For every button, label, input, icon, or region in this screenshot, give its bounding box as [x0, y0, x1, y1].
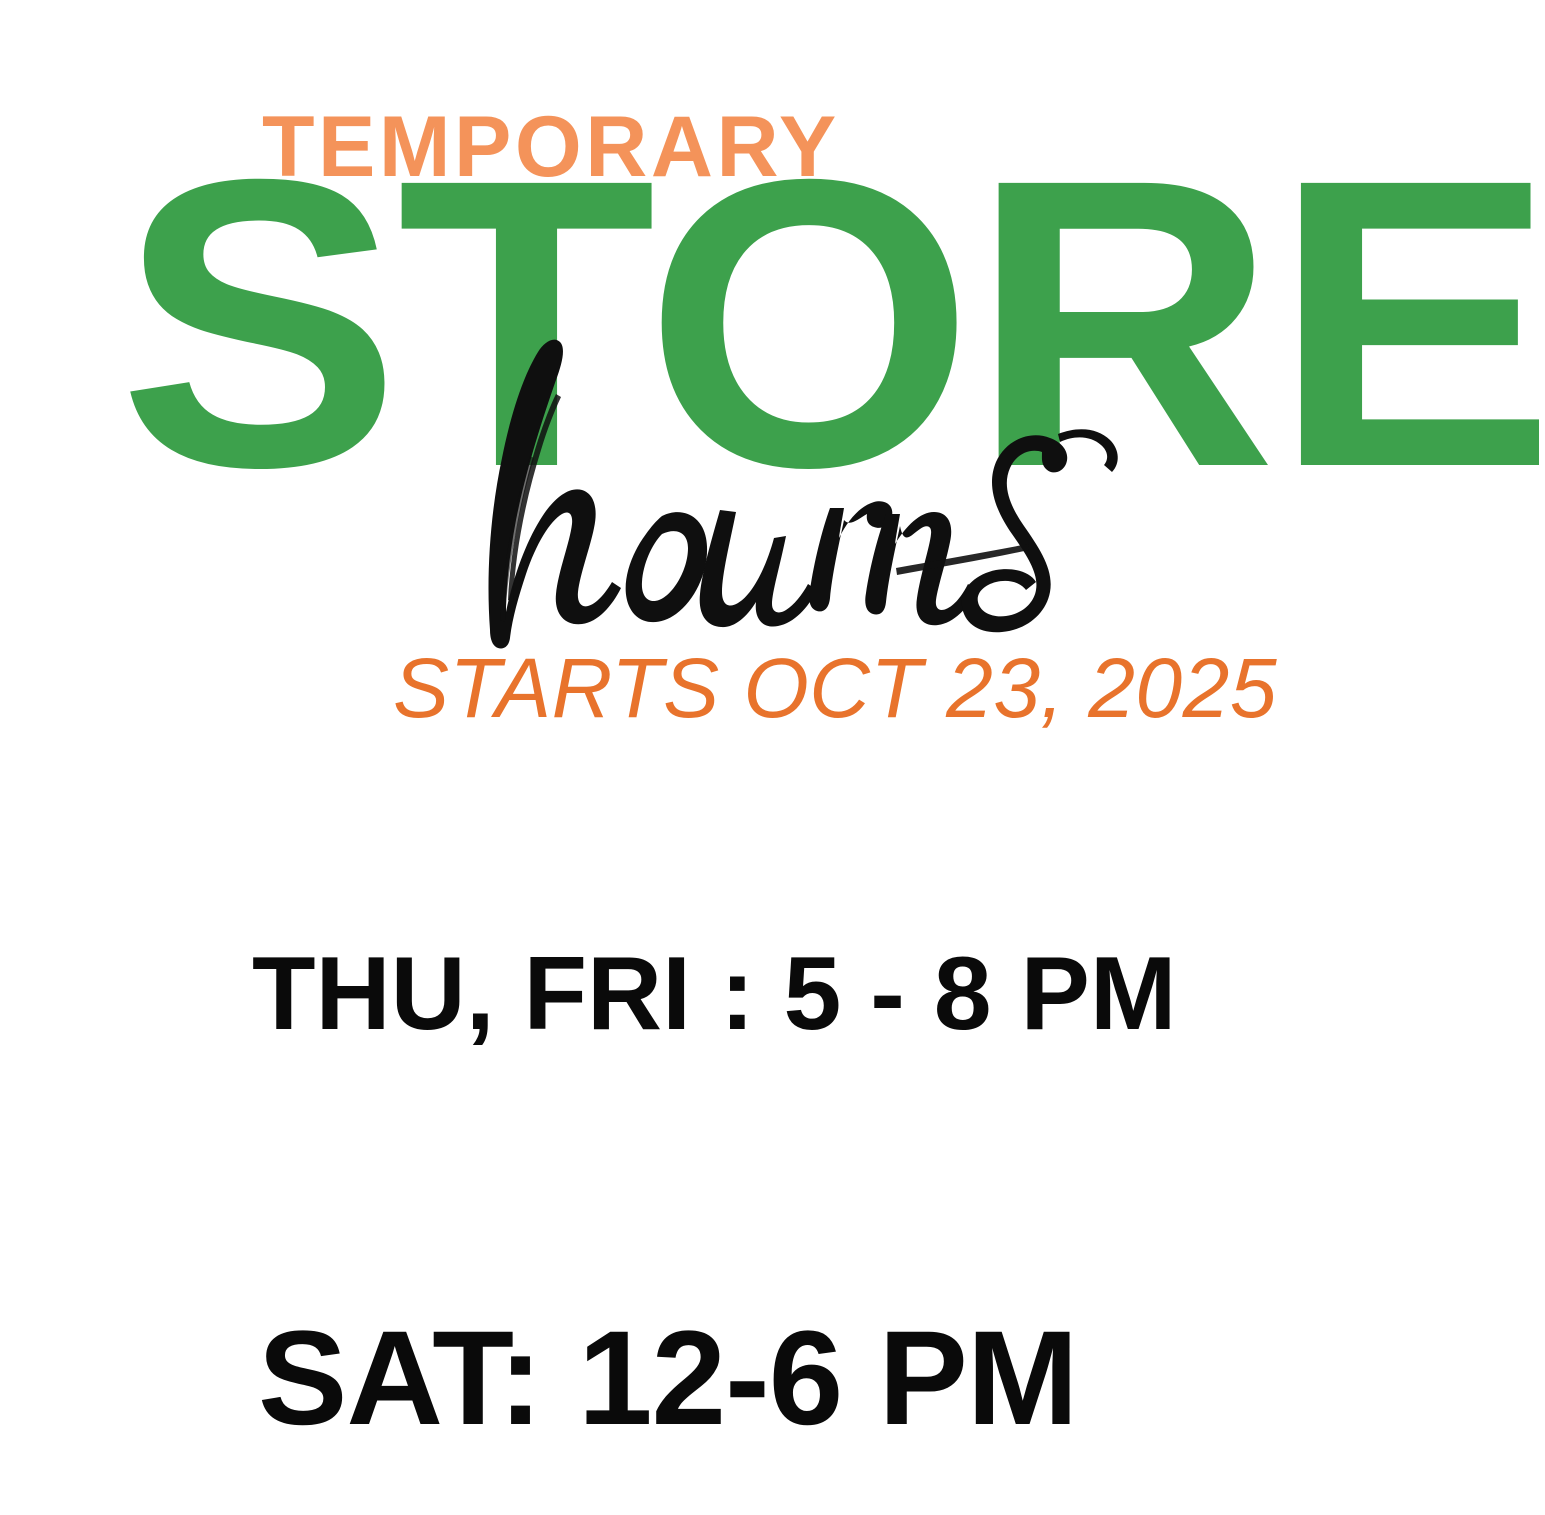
- headline-lockup: TEMPORARY STORE: [0, 0, 1545, 760]
- wordmark-store: STORE: [118, 118, 1464, 528]
- store-hours-poster: TEMPORARY STORE: [0, 0, 1545, 1515]
- start-date-label: STARTS OCT 23, 2025: [393, 646, 1277, 730]
- hours-row-saturday: SAT: 12-6 PM: [258, 1312, 1077, 1446]
- hours-row-weekday: THU, FRI : 5 - 8 PM: [252, 942, 1176, 1046]
